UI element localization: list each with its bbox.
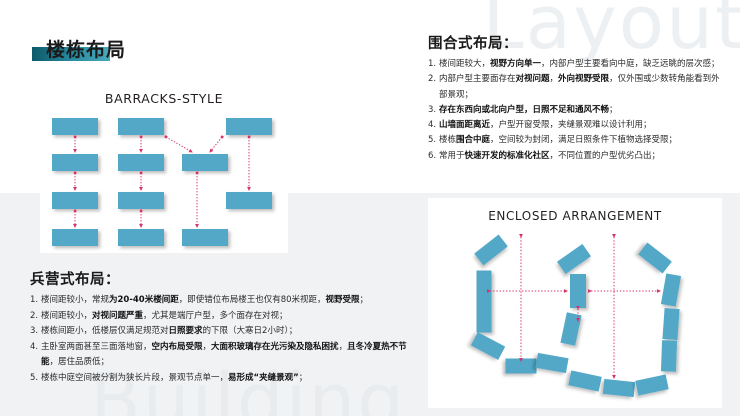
building-block <box>182 154 228 171</box>
barracks-list-item-text: 楼间距较小，对视问题严重，尤其是端厅户型，多个面存在对视； <box>41 311 288 321</box>
building-block <box>118 118 164 135</box>
diagram-enclosed-svg <box>428 198 722 408</box>
building-block <box>52 229 98 246</box>
barracks-list-item: 3.楼栋间距小，低楼层仅满足规范对日照要求的下限（大寒日2小时）； <box>30 324 418 340</box>
building-block <box>477 302 492 333</box>
building-block <box>477 271 492 302</box>
heading-enclosed: 围合式布局： <box>428 32 728 53</box>
heading-barracks: 兵营式布局： <box>30 268 418 289</box>
enclosed-list-item-number: 1. <box>428 57 436 72</box>
building-block <box>52 192 98 209</box>
building-block <box>603 379 635 397</box>
enclosed-list-item-text: 常用于快速开发的标准化社区，不同位置的户型优劣凸出； <box>439 151 660 161</box>
enclosed-list-item-number: 5. <box>428 133 436 148</box>
barracks-list-item: 4.主卧室两面甚至三面落地窗，空内布局受限，大面积玻璃存在光污染及隐私困扰，且冬… <box>30 340 418 371</box>
enclosed-list-item-text: 存在东西向或北向户型，日照不足和通风不畅； <box>439 105 618 115</box>
barracks-list-item: 5.楼栋中庭空间被分割为狭长片段，景观节点单一，易形成“夹缝景观”； <box>30 371 418 387</box>
building-block <box>118 192 164 209</box>
diagram-card-enclosed: ENCLOSED ARRANGEMENT <box>428 198 722 408</box>
list-barracks: 1.楼间距较小，常规为20-40米楼间距，即使错位布局楼王也仅有80米视距，视野… <box>30 293 418 387</box>
building-block <box>52 154 98 171</box>
barracks-list-item-number: 4. <box>30 340 38 356</box>
enclosed-list-item: 2.内部户型主要面存在对视问题，外向视野受限，仅外围或少数转角能看到外部景观； <box>428 72 728 103</box>
enclosed-list-item: 4.山墙面距离近，户型开窗受限，夹缝景观难以设计利用； <box>428 118 728 133</box>
building-block <box>568 370 601 391</box>
enclosed-list-item-text: 楼栋围合中庭，空间较为封闭，满足日照条件下植物选择受限； <box>439 135 677 145</box>
building-block <box>662 308 679 340</box>
enclosed-list-item-number: 4. <box>428 118 436 133</box>
barracks-list-item-number: 3. <box>30 324 38 340</box>
enclosed-list-item-text: 内部户型主要面存在对视问题，外向视野受限，仅外围或少数转角能看到外部景观； <box>439 74 720 99</box>
building-block <box>638 243 672 274</box>
barracks-list-item-text: 主卧室两面甚至三面落地窗，空内布局受限，大面积玻璃存在光污染及隐私困扰，且冬冷夏… <box>41 342 407 368</box>
building-block <box>557 244 591 274</box>
spacing-arrow <box>210 137 222 152</box>
barracks-list-item-number: 2. <box>30 309 38 325</box>
enclosed-list-item-number: 6. <box>428 149 436 164</box>
building-block <box>118 154 164 171</box>
barracks-list-item-text: 楼栋中庭空间被分割为狭长片段，景观节点单一，易形成“夹缝景观”； <box>41 373 307 383</box>
diagram-barracks-svg <box>40 82 288 253</box>
building-block <box>535 353 568 373</box>
building-block <box>570 274 586 308</box>
building-block <box>661 273 681 306</box>
diagram-card-barracks: BARRACKS-STYLE <box>40 82 288 253</box>
building-block <box>226 118 272 135</box>
building-block <box>474 235 508 266</box>
barracks-list-item-number: 1. <box>30 293 38 309</box>
building-block <box>226 192 272 209</box>
enclosed-list-item-number: 2. <box>428 72 436 87</box>
text-block-barracks: 兵营式布局： 1.楼间距较小，常规为20-40米楼间距，即使错位布局楼王也仅有8… <box>30 268 418 387</box>
enclosed-list-item: 3.存在东西向或北向户型，日照不足和通风不畅； <box>428 103 728 118</box>
building-block <box>118 229 164 246</box>
barracks-list-item: 1.楼间距较小，常规为20-40米楼间距，即使错位布局楼王也仅有80米视距，视野… <box>30 293 418 309</box>
slide-root: Layout Building 楼栋布局 BARRACKS-STYLE <box>0 0 740 416</box>
building-block <box>506 359 537 374</box>
enclosed-list-item-number: 3. <box>428 103 436 118</box>
enclosed-list-item-text: 楼间距较大，视野方向单一，内部户型主要看向中庭，缺乏远眺的层次感； <box>439 59 720 69</box>
title-text: 楼栋布局 <box>46 36 126 64</box>
building-block <box>182 229 228 246</box>
barracks-list-item-number: 5. <box>30 371 38 387</box>
building-block <box>52 118 98 135</box>
building-block <box>635 374 668 395</box>
list-enclosed: 1.楼间距较大，视野方向单一，内部户型主要看向中庭，缺乏远眺的层次感；2.内部户… <box>428 57 728 164</box>
text-block-enclosed: 围合式布局： 1.楼间距较大，视野方向单一，内部户型主要看向中庭，缺乏远眺的层次… <box>428 32 728 164</box>
enclosed-list-item-text: 山墙面距离近，户型开窗受限，夹缝景观难以设计利用； <box>439 120 652 130</box>
building-block <box>661 340 677 372</box>
barracks-list-item: 2.楼间距较小，对视问题严重，尤其是端厅户型，多个面存在对视； <box>30 309 418 325</box>
enclosed-list-item: 5.楼栋围合中庭，空间较为封闭，满足日照条件下植物选择受限； <box>428 133 728 148</box>
building-block <box>560 312 581 345</box>
enclosed-list-item: 1.楼间距较大，视野方向单一，内部户型主要看向中庭，缺乏远眺的层次感； <box>428 57 728 72</box>
spacing-arrow <box>166 137 192 152</box>
barracks-list-item-text: 楼栋间距小，低楼层仅满足规范对日照要求的下限（大寒日2小时）； <box>41 326 297 336</box>
building-block <box>471 332 505 360</box>
enclosed-list-item: 6.常用于快速开发的标准化社区，不同位置的户型优劣凸出； <box>428 149 728 164</box>
barracks-list-item-text: 楼间距较小，常规为20-40米楼间距，即使错位布局楼王也仅有80米视距，视野受限… <box>41 295 368 305</box>
